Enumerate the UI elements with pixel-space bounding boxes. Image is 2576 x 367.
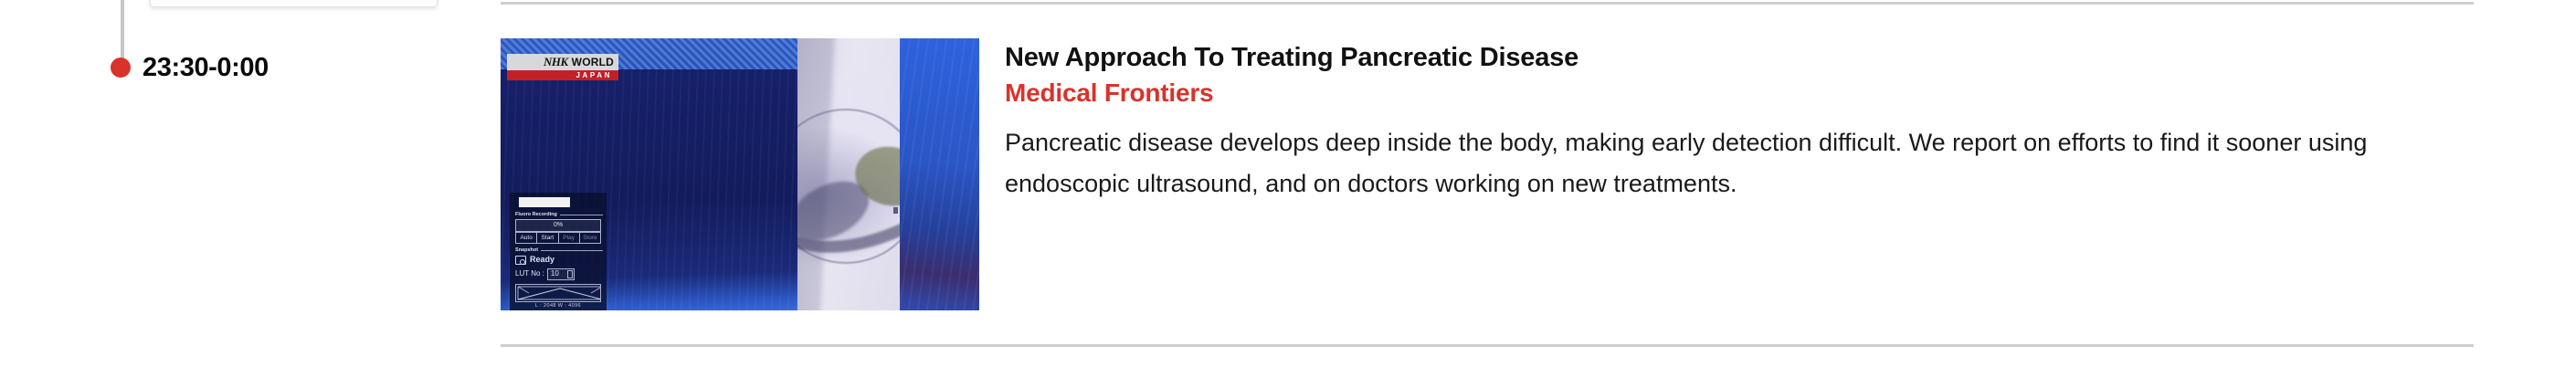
fluoro-play-button: Play — [559, 232, 580, 244]
timeline-marker-dot-icon — [111, 58, 131, 78]
window-level-readout: L : 2048 W : 4096 — [513, 302, 603, 309]
program-title[interactable]: New Approach To Treating Pancreatic Dise… — [1005, 40, 2466, 75]
nhk-japan-logo-bottom: JAPAN — [507, 70, 618, 80]
fluoro-start-button: Start — [537, 232, 558, 244]
lut-curve-graph — [515, 284, 601, 302]
fluoro-progress-value: 0% — [515, 219, 601, 232]
snapshot-status-value: Ready — [530, 256, 554, 265]
lut-label: LUT No : — [515, 270, 544, 278]
section-rule — [560, 215, 603, 215]
snapshot-label: Snapshot — [515, 247, 538, 253]
surgical-drape-right — [900, 38, 979, 310]
row-divider-bottom — [501, 344, 2474, 347]
fluoro-recording-label: Fluoro Recording — [515, 212, 557, 217]
fluoro-recording-section-header: Fluoro Recording — [515, 212, 603, 217]
timeline-rail: 23:30-0:00 — [0, 0, 501, 367]
nhk-world-japan-logo: NHK WORLD JAPAN — [507, 54, 618, 80]
snapshot-status-row: Ready — [515, 256, 601, 265]
section-rule — [541, 250, 603, 251]
previous-program-card[interactable] — [150, 0, 438, 7]
nhk-wordmark: NHK — [544, 55, 568, 69]
camera-icon — [515, 256, 526, 265]
snapshot-section-header: Snapshot — [515, 247, 603, 253]
program-list-item[interactable]: NHK WORLD JAPAN Fluoro Recording 0% Auto… — [501, 0, 2474, 367]
fluoro-auto-button: Auto — [515, 232, 537, 244]
row-divider-top — [501, 2, 2474, 5]
imaging-device-control-panel: Fluoro Recording 0% Auto Start Play Stor… — [510, 193, 607, 310]
lut-curve-svg — [516, 285, 601, 301]
world-wordmark: WORLD — [572, 56, 614, 68]
program-description: Pancreatic disease develops deep inside … — [1005, 122, 2466, 204]
fluoro-button-group: Auto Start Play Store — [515, 232, 601, 244]
nhk-world-logo-top: NHK WORLD — [507, 54, 618, 70]
program-time-label: 23:30-0:00 — [143, 52, 269, 83]
panel-highlight-bar — [519, 197, 570, 207]
program-series-name[interactable]: Medical Frontiers — [1005, 75, 2466, 111]
program-text-block: New Approach To Treating Pancreatic Dise… — [1005, 40, 2466, 204]
lut-number-row: LUT No : 10 — [515, 268, 601, 280]
lut-value-field: 10 — [547, 268, 575, 280]
fluoro-store-button: Store — [580, 232, 601, 244]
program-thumbnail[interactable]: NHK WORLD JAPAN Fluoro Recording 0% Auto… — [501, 38, 979, 310]
japan-wordmark: JAPAN — [575, 71, 612, 79]
